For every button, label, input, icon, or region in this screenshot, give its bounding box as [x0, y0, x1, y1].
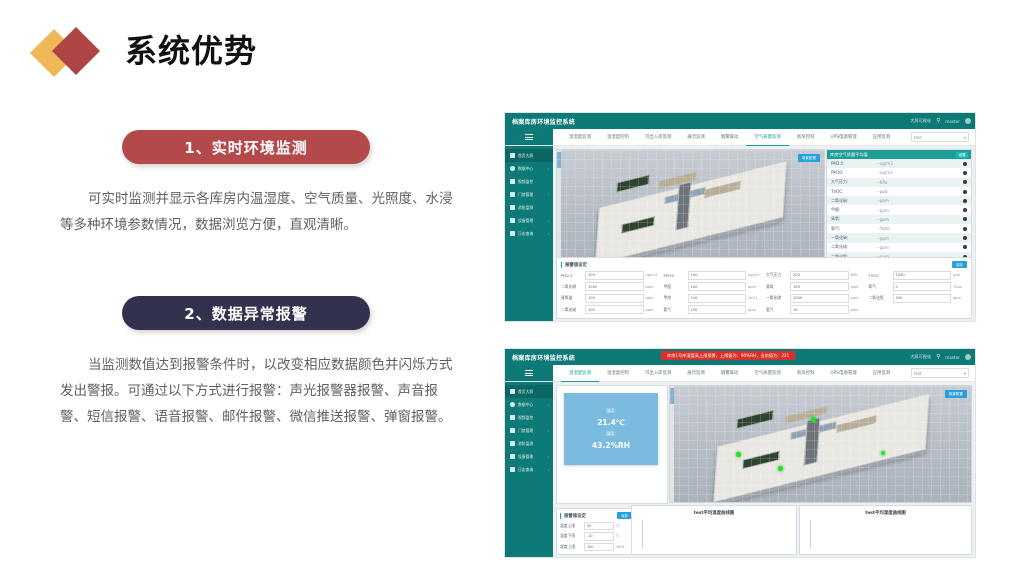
sidebar-item-1-label: 数据中心	[518, 166, 533, 172]
site-select-value: test	[914, 371, 922, 376]
chevron-right-icon: ›	[548, 468, 549, 472]
status-dot-icon	[963, 171, 967, 175]
sidebar-bottom: 首页大屏 数据中心 › 视频监控 门禁管理 ›	[505, 382, 553, 558]
field-unit: ppm	[851, 296, 865, 300]
air-quality-settings-button[interactable]: 设置	[956, 152, 968, 158]
field-input[interactable]: 100	[585, 294, 644, 303]
field-unit: ug/m3	[748, 273, 762, 277]
lawn-area-2	[621, 217, 655, 234]
scene-3d-bottom[interactable]: 场景配置	[669, 385, 972, 503]
lawn-area	[736, 409, 774, 428]
field-input[interactable]: 2000	[790, 294, 849, 303]
field-label: 甲烷	[664, 295, 686, 301]
list-icon	[510, 467, 515, 472]
chevron-right-icon: ›	[548, 193, 549, 197]
tab-6[interactable]: 新风控制	[789, 129, 823, 145]
field-unit: ppm	[851, 285, 865, 289]
field-input[interactable]: 100	[893, 294, 952, 303]
field-11: 二氧化氮100ppm	[869, 294, 968, 303]
field-input[interactable]: 100	[688, 282, 747, 291]
field-2: 大气压力200KPa	[766, 271, 865, 280]
content-column: 1、实时环境监测 可实时监测并显示各库房内温湿度、空气质量、光照度、水浸等多种环…	[60, 130, 470, 430]
field-unit: ppm	[953, 296, 967, 300]
status-dot-icon	[963, 199, 967, 203]
chevron-right-icon: ›	[548, 232, 549, 236]
row-name: 二氧化碳:	[831, 198, 877, 204]
road	[676, 182, 691, 231]
tab-5[interactable]: 空气质量监测	[746, 129, 788, 146]
gear-icon	[510, 218, 515, 223]
table-row: 氧气:--%Vol	[827, 224, 971, 233]
field-label: PM10	[664, 273, 686, 278]
field-input[interactable]: 100	[688, 305, 747, 314]
sidebar-item-1[interactable]: 数据中心 ›	[505, 398, 553, 411]
section-1-pill: 1、实时环境监测	[122, 130, 370, 164]
table-row: 甲醛:--ppm	[827, 205, 971, 214]
field-label: 二氧化硫	[561, 307, 583, 313]
app-header-bottom: 档案库房环境监控系统 库房1号库湿度高上限报警，上限值为：90%RH，当前值为：…	[505, 349, 975, 365]
alarm-row-1: 温度下限-10℃	[560, 532, 632, 541]
field-label: PM2.5	[561, 273, 583, 278]
sidebar-item-1[interactable]: 数据中心 ›	[505, 162, 553, 175]
nav-tabs-top: 温湿度监测 温湿度控制 可出入库监测 展示监测 烟雾联动 空气质量监测 新风控制…	[553, 129, 911, 146]
field-4: 二氧化碳1000ppm	[561, 282, 660, 291]
home-icon	[510, 153, 515, 158]
alarm-threshold-header: 报警值设定 保存	[560, 512, 632, 520]
field-input[interactable]: 100	[585, 271, 644, 280]
field-unit: ppm	[646, 308, 660, 312]
status-dot-icon	[963, 236, 967, 240]
field-input[interactable]: 200	[790, 271, 849, 280]
roof-tan	[659, 171, 698, 189]
content-bottom: 温度: 21.4℃ 湿度: 43.2%RH	[553, 382, 975, 558]
header-actions: 大屏可视化 ⚲ master	[910, 349, 971, 365]
sidebar-item-2-label: 视频监控	[518, 179, 533, 185]
tab-1[interactable]: 温湿度控制	[599, 129, 637, 145]
sidebar-item-5[interactable]: 设备管理 ›	[505, 214, 553, 227]
field-unit: ppm	[748, 308, 762, 312]
roof-tan-2	[836, 416, 876, 434]
row-value: --%Vol	[877, 226, 963, 231]
sidebar-item-0-label: 首页大屏	[518, 389, 533, 395]
tab-7[interactable]: UPS电源管理	[822, 129, 864, 145]
chevron-right-icon: ›	[548, 403, 549, 407]
nav-bar-top: 温湿度监测 温湿度控制 可出入库监测 展示监测 烟雾联动 空气质量监测 新风控制…	[505, 129, 975, 146]
row-name: 大气压力:	[831, 179, 877, 185]
sidebar-item-4[interactable]: 消防监测	[505, 201, 553, 214]
reading-pane: 温度: 21.4℃ 湿度: 43.2%RH	[556, 385, 668, 504]
field-label: 臭氧量	[561, 295, 583, 301]
scene-3d-top[interactable]: 场景配置	[556, 149, 825, 269]
chart-temperature: test平均温度曲线图	[631, 505, 797, 555]
tab-7[interactable]: UPS电源管理	[822, 365, 864, 381]
temperature-label: 温度:	[606, 408, 616, 414]
lawn-area	[616, 174, 650, 192]
field-6: 臭氧100ppm	[766, 282, 865, 291]
logo	[35, 30, 125, 78]
app-title: 档案库房环境监控系统	[512, 353, 575, 362]
sidebar-item-2[interactable]: 视频监控	[505, 175, 553, 188]
sensor-marker[interactable]	[811, 417, 816, 422]
page-title: 系统优势	[125, 29, 257, 73]
field-input[interactable]: 10	[790, 305, 849, 314]
door-icon	[510, 192, 515, 197]
alarm-row-2: 湿度上限100%RH	[560, 543, 632, 552]
sidebar-item-3[interactable]: 门禁管理 ›	[505, 188, 553, 201]
field-input[interactable]: 100	[688, 294, 747, 303]
field-unit: ℃	[616, 534, 620, 538]
sidebar-item-6-label: 日志查询	[518, 467, 533, 473]
row-name: 臭氧:	[831, 216, 877, 222]
status-dot-icon	[963, 217, 967, 221]
alarm-row-0: 温度上限50℃	[560, 522, 632, 531]
alarm-threshold-fields: PM2.5100ug/m3 PM10100ug/m3 大气压力200KPa TV…	[561, 271, 967, 315]
save-button[interactable]: 保存	[952, 261, 967, 268]
table-row: PM10:--ug/m3	[827, 168, 971, 177]
field-9: 甲烷100%LEL	[664, 294, 763, 303]
screenshot-air-quality: 档案库房环境监控系统 大屏可视化 ⚲ master 温湿度监测 温湿度控制 可出…	[504, 112, 976, 322]
alarm-threshold-card-top: 报警值设定 保存 PM2.5100ug/m3 PM10100ug/m3 大气压力…	[556, 257, 972, 320]
sidebar-item-5-label: 设备管理	[518, 218, 533, 224]
field-label: 温度上限	[560, 523, 582, 529]
field-12: 二氧化硫100ppm	[561, 305, 660, 314]
app-body-bottom: 首页大屏 数据中心 › 视频监控 门禁管理 ›	[505, 382, 975, 558]
tab-8[interactable]: 应用监测	[865, 129, 899, 145]
field-unit: KPa	[851, 273, 865, 277]
field-label: 甲醛	[664, 284, 686, 290]
tab-3[interactable]: 展示监测	[679, 129, 713, 145]
field-input[interactable]: 1000	[893, 271, 952, 280]
field-input[interactable]: 0	[893, 282, 952, 291]
reading-card: 温度: 21.4℃ 湿度: 43.2%RH	[564, 393, 658, 465]
status-dot-icon	[963, 180, 967, 184]
sensor-marker[interactable]	[778, 466, 783, 471]
road	[804, 417, 821, 465]
lawn-area-2	[742, 451, 780, 469]
sidebar-item-5[interactable]: 设备管理 ›	[505, 450, 553, 463]
humidity-label: 湿度:	[606, 431, 616, 437]
sidebar-top: 首页大屏 数据中心 › 视频监控 门禁管理 ›	[505, 146, 553, 322]
section-2-pill: 2、数据异常报警	[122, 296, 370, 330]
sidebar-item-4-label: 消防监测	[518, 441, 533, 447]
field-1: PM10100ug/m3	[664, 271, 763, 280]
fullscreen-label[interactable]: 大屏可视化	[910, 354, 931, 360]
scene-config-button[interactable]: 场景配置	[945, 390, 967, 398]
sidebar-item-6[interactable]: 日志查询 ›	[505, 227, 553, 240]
sensor-marker[interactable]	[881, 451, 886, 456]
app-header-top: 档案库房环境监控系统 大屏可视化 ⚲ master	[505, 113, 975, 129]
row-name: PM2.5:	[831, 161, 877, 166]
table-row: 一氧化碳:--ppm	[827, 233, 971, 242]
status-dot-icon	[963, 162, 967, 166]
sidebar-item-6-label: 日志查询	[518, 231, 533, 237]
chart-y-axis	[810, 520, 811, 549]
field-label: 氨气	[664, 307, 686, 313]
sidebar-item-4-label: 消防监测	[518, 205, 533, 211]
user-label: master	[945, 355, 960, 360]
row-value: --ppb	[877, 189, 963, 194]
sidebar-item-3-label: 门禁管理	[518, 428, 533, 434]
sidebar-item-0-label: 首页大屏	[518, 153, 533, 159]
field-input[interactable]: -10	[584, 532, 614, 541]
avatar[interactable]	[965, 354, 971, 360]
field-input[interactable]: 100	[584, 543, 614, 552]
roof-blue	[791, 422, 837, 441]
screenshot-temp-humidity: 档案库房环境监控系统 库房1号库湿度高上限报警，上限值为：90%RH，当前值为：…	[504, 348, 976, 558]
field-label: 二氧化碳	[561, 284, 583, 290]
field-label: 氢气	[766, 307, 788, 313]
field-8: 臭氧量100ppm	[561, 294, 660, 303]
gear-icon	[510, 454, 515, 459]
field-unit: ppm	[646, 285, 660, 289]
air-quality-panel-header: 库房空气质量平均值 设置	[827, 150, 971, 159]
field-label: 一氧化碳	[766, 295, 788, 301]
chevron-right-icon: ›	[548, 429, 549, 433]
tab-3[interactable]: 展示监测	[679, 365, 713, 381]
scene-scrollbar[interactable]	[670, 386, 674, 502]
list-icon	[510, 231, 515, 236]
status-dot-icon	[963, 190, 967, 194]
scene-config-button[interactable]: 场景配置	[798, 154, 820, 162]
scene-scrollbar[interactable]	[557, 150, 561, 268]
door-icon	[510, 428, 515, 433]
humidity-value: 43.2%RH	[592, 441, 630, 450]
hamburger-icon	[525, 133, 533, 141]
alarm-threshold-header: 报警值设定 保存	[561, 261, 967, 269]
field-input[interactable]: 100	[585, 305, 644, 314]
field-unit: %LEL	[748, 296, 762, 300]
sidebar-item-0[interactable]: 首页大屏	[505, 385, 553, 398]
row-value: --ppm	[877, 198, 963, 203]
field-unit: %Vol	[953, 285, 967, 289]
field-7: 氧气0%Vol	[869, 282, 968, 291]
row-value: --ppm	[877, 208, 963, 213]
site-select[interactable]: test ▾	[911, 132, 969, 142]
chevron-down-icon: ▾	[964, 371, 966, 376]
chart-humidity: test平均湿度曲线图	[799, 505, 972, 555]
camera-icon	[510, 415, 515, 420]
field-label: TVOC	[869, 273, 891, 278]
field-unit: %RH	[616, 545, 624, 549]
alarm-threshold-title: 报警值设定	[561, 262, 587, 268]
row-value: --ppm	[877, 217, 963, 222]
fire-icon	[510, 205, 515, 210]
slide-header: 系统优势	[35, 22, 455, 84]
table-row: PM2.5:--ug/m3	[827, 159, 971, 168]
row-name: 二氧化硫:	[831, 244, 877, 250]
hamburger-icon	[525, 369, 533, 377]
row-name: 氧气:	[831, 226, 877, 232]
field-0: PM2.5100ug/m3	[561, 271, 660, 280]
bell-icon[interactable]: ⚲	[936, 354, 940, 360]
bell-icon[interactable]: ⚲	[936, 118, 940, 124]
field-unit: ppb	[953, 273, 967, 277]
tab-5[interactable]: 空气质量监测	[746, 365, 788, 381]
table-row: 大气压力:--KPa	[827, 178, 971, 187]
app-body-top: 首页大屏 数据中心 › 视频监控 门禁管理 ›	[505, 146, 975, 322]
alarm-threshold-title: 报警值设定	[560, 513, 586, 519]
field-13: 氨气100ppm	[664, 305, 763, 314]
roof-blue	[664, 187, 705, 205]
tab-2[interactable]: 可出入库监测	[637, 129, 679, 145]
tab-0[interactable]: 温湿度监测	[561, 365, 599, 382]
section-2-body: 当监测数值达到报警条件时，以改变相应数据颜色并闪烁方式发出警报。可通过以下方式进…	[60, 352, 460, 430]
field-14: 氢气10ppm	[766, 305, 865, 314]
tab-4[interactable]: 烟雾联动	[713, 365, 747, 381]
section-1-body: 可实时监测并显示各库房内温湿度、空气质量、光照度、水浸等多种环境参数情况，数据浏…	[60, 186, 460, 238]
sidebar-item-0[interactable]: 首页大屏	[505, 149, 553, 162]
nav-tabs-bottom: 温湿度监测 温湿度控制 可出入库监测 展示监测 烟雾联动 空气质量监测 新风控制…	[553, 365, 911, 382]
table-row: 二氧化碳:--ppm	[827, 196, 971, 205]
temperature-value: 21.4℃	[597, 418, 625, 427]
sidebar-item-6[interactable]: 日志查询 ›	[505, 463, 553, 476]
database-icon	[510, 166, 515, 171]
alarm-banner: 库房1号库湿度高上限报警，上限值为：90%RH，当前值为：221	[661, 351, 795, 360]
row-name: 一氧化碳:	[831, 235, 877, 241]
field-unit: ug/m3	[646, 273, 660, 277]
sidebar-item-4[interactable]: 消防监测	[505, 437, 553, 450]
field-unit: ℃	[616, 524, 620, 528]
building-plate	[595, 161, 787, 265]
tab-2[interactable]: 可出入库监测	[637, 365, 679, 381]
row-name: 甲醛:	[831, 207, 877, 213]
field-5: 甲醛100ppm	[664, 282, 763, 291]
field-label: 臭氧	[766, 284, 788, 290]
header-actions: 大屏可视化 ⚲ master	[910, 113, 971, 129]
status-dot-icon	[963, 208, 967, 212]
row-name: PM10:	[831, 170, 877, 175]
app-title: 档案库房环境监控系统	[512, 117, 575, 126]
field-label: 二氧化氮	[869, 295, 891, 301]
air-quality-panel-title: 库房空气质量平均值	[830, 152, 868, 158]
sidebar-item-1-label: 数据中心	[518, 402, 533, 408]
building-plate	[713, 393, 929, 502]
row-value: --ppm	[877, 245, 963, 250]
sidebar-item-3[interactable]: 门禁管理 ›	[505, 424, 553, 437]
roof-tan	[785, 406, 828, 425]
field-input[interactable]: 50	[584, 522, 614, 531]
nav-bar-bottom: 温湿度监测 温湿度控制 可出入库监测 展示监测 烟雾联动 空气质量监测 新风控制…	[505, 365, 975, 382]
chevron-right-icon: ›	[548, 219, 549, 223]
user-label: master	[945, 119, 960, 124]
field-input[interactable]: 100	[790, 282, 849, 291]
field-label: 温度下限	[560, 533, 582, 539]
fire-icon	[510, 441, 515, 446]
site-select[interactable]: test ▾	[911, 368, 969, 378]
menu-toggle-button[interactable]	[505, 365, 553, 381]
tab-1[interactable]: 温湿度控制	[599, 365, 637, 381]
field-label: 湿度上限	[560, 544, 582, 550]
sidebar-item-2-label: 视频监控	[518, 415, 533, 421]
database-icon	[510, 402, 515, 407]
field-input[interactable]: 100	[688, 271, 747, 280]
tab-0[interactable]: 温湿度监测	[561, 129, 599, 145]
field-label: 氧气	[869, 284, 891, 290]
tab-4[interactable]: 烟雾联动	[713, 129, 747, 145]
field-3: TVOC1000ppb	[869, 271, 968, 280]
row-name: TVOC:	[831, 189, 877, 194]
chart-humidity-title: test平均湿度曲线图	[800, 510, 971, 516]
row-value: --KPa	[877, 180, 963, 185]
field-label: 大气压力	[766, 272, 788, 278]
row-value: --ppm	[877, 236, 963, 241]
sensor-marker[interactable]	[736, 452, 741, 457]
field-unit: ppm	[748, 285, 762, 289]
chart-y-axis	[642, 520, 643, 549]
table-row: 二氧化硫:--ppm	[827, 243, 971, 252]
chevron-right-icon: ›	[548, 167, 549, 171]
tab-8[interactable]: 应用监测	[865, 365, 899, 381]
slide-root: 系统优势 1、实时环境监测 可实时监测并显示各库房内温湿度、空气质量、光照度、水…	[0, 0, 1028, 578]
status-dot-icon	[963, 227, 967, 231]
table-row: TVOC:--ppb	[827, 187, 971, 196]
chart-temperature-title: test平均温度曲线图	[632, 510, 796, 516]
sidebar-item-3-label: 门禁管理	[518, 192, 533, 198]
sidebar-item-5-label: 设备管理	[518, 454, 533, 460]
field-input[interactable]: 1000	[585, 282, 644, 291]
section-1-pill-label: 1、实时环境监测	[184, 137, 307, 158]
section-2-pill-label: 2、数据异常报警	[184, 303, 307, 324]
chevron-right-icon: ›	[548, 455, 549, 459]
row-value: --ug/m3	[877, 161, 963, 166]
alarm-threshold-card-bottom: 报警值设定 保存 温度上限50℃ 温度下限-10℃ 湿度上限100%RH	[556, 508, 636, 556]
row-value: --ug/m3	[877, 170, 963, 175]
field-unit: ppm	[646, 296, 660, 300]
site-select-value: test	[914, 135, 922, 140]
table-row: 臭氧:--ppm	[827, 215, 971, 224]
chevron-down-icon: ▾	[964, 135, 966, 140]
roof-tan-2	[704, 181, 740, 198]
tab-6[interactable]: 新风控制	[789, 365, 823, 381]
menu-toggle-button[interactable]	[505, 129, 553, 145]
content-top: 场景配置 库房空气质量平均值 设置 PM2.5:--ug/m3 PM10:--u…	[553, 146, 975, 322]
field-10: 一氧化碳2000ppm	[766, 294, 865, 303]
save-button[interactable]: 保存	[617, 512, 632, 519]
home-icon	[510, 389, 515, 394]
avatar[interactable]	[965, 118, 971, 124]
field-unit: ppm	[851, 308, 865, 312]
sidebar-item-2[interactable]: 视频监控	[505, 411, 553, 424]
status-dot-icon	[963, 245, 967, 249]
fullscreen-label[interactable]: 大屏可视化	[910, 118, 931, 124]
camera-icon	[510, 179, 515, 184]
